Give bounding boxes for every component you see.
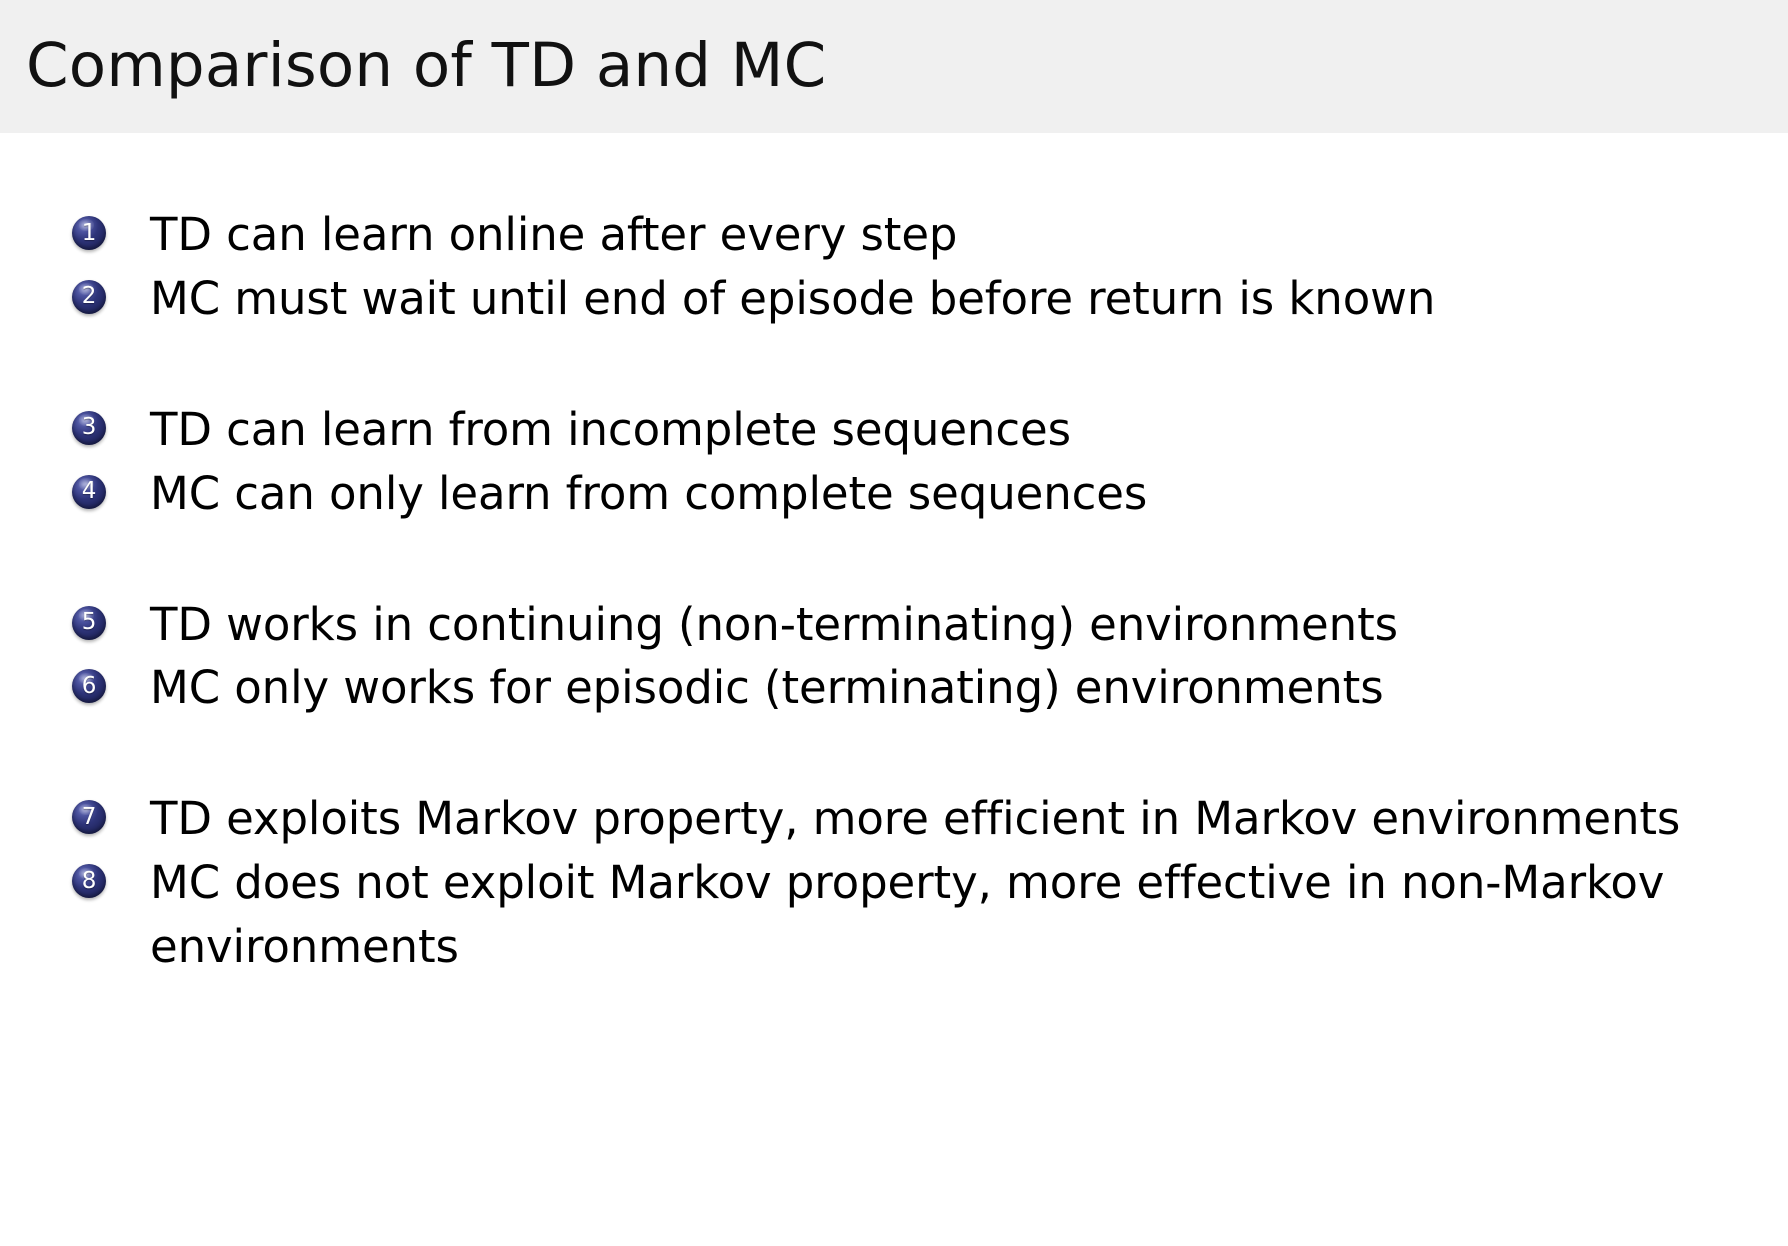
list-item: 8 MC does not exploit Markov property, m…: [66, 851, 1766, 979]
numbered-bullet-icon: 8: [72, 864, 106, 898]
list-item: 7 TD exploits Markov property, more effi…: [66, 787, 1766, 851]
numbered-bullet-icon: 5: [72, 606, 106, 640]
list-item: 3 TD can learn from incomplete sequences: [66, 398, 1766, 462]
list-item-text: TD exploits Markov property, more effici…: [150, 787, 1766, 851]
list-item-text: MC can only learn from complete sequence…: [150, 462, 1766, 526]
bullet-number-label: 7: [82, 806, 97, 829]
numbered-bullet-icon: 2: [72, 280, 106, 314]
page-title: Comparison of TD and MC: [0, 34, 826, 98]
slide-title-bar: Comparison of TD and MC: [0, 0, 1788, 133]
list-item-text: MC does not exploit Markov property, mor…: [150, 851, 1766, 979]
numbered-bullet-icon: 6: [72, 669, 106, 703]
numbered-bullet-icon: 1: [72, 216, 106, 250]
list-item: 6 MC only works for episodic (terminatin…: [66, 656, 1766, 720]
slide: Comparison of TD and MC 1 TD can learn o…: [0, 0, 1788, 1246]
bullet-number-label: 3: [82, 416, 97, 439]
list-item: 2 MC must wait until end of episode befo…: [66, 267, 1766, 331]
enumerated-list: 1 TD can learn online after every step 2…: [66, 203, 1766, 979]
list-item-text: MC must wait until end of episode before…: [150, 267, 1766, 331]
list-item-text: TD works in continuing (non-terminating)…: [150, 593, 1766, 657]
numbered-bullet-icon: 7: [72, 800, 106, 834]
slide-content: 1 TD can learn online after every step 2…: [0, 133, 1788, 1246]
list-item: 5 TD works in continuing (non-terminatin…: [66, 593, 1766, 657]
list-item-text: TD can learn from incomplete sequences: [150, 398, 1766, 462]
list-item-text: TD can learn online after every step: [150, 203, 1766, 267]
numbered-bullet-icon: 4: [72, 475, 106, 509]
bullet-number-label: 5: [82, 611, 97, 634]
bullet-number-label: 6: [82, 675, 97, 698]
bullet-number-label: 8: [82, 870, 97, 893]
numbered-bullet-icon: 3: [72, 411, 106, 445]
list-item: 4 MC can only learn from complete sequen…: [66, 462, 1766, 526]
bullet-number-label: 2: [82, 285, 97, 308]
bullet-number-label: 1: [82, 222, 97, 245]
list-item-text: MC only works for episodic (terminating)…: [150, 656, 1766, 720]
bullet-number-label: 4: [82, 480, 97, 503]
list-item: 1 TD can learn online after every step: [66, 203, 1766, 267]
